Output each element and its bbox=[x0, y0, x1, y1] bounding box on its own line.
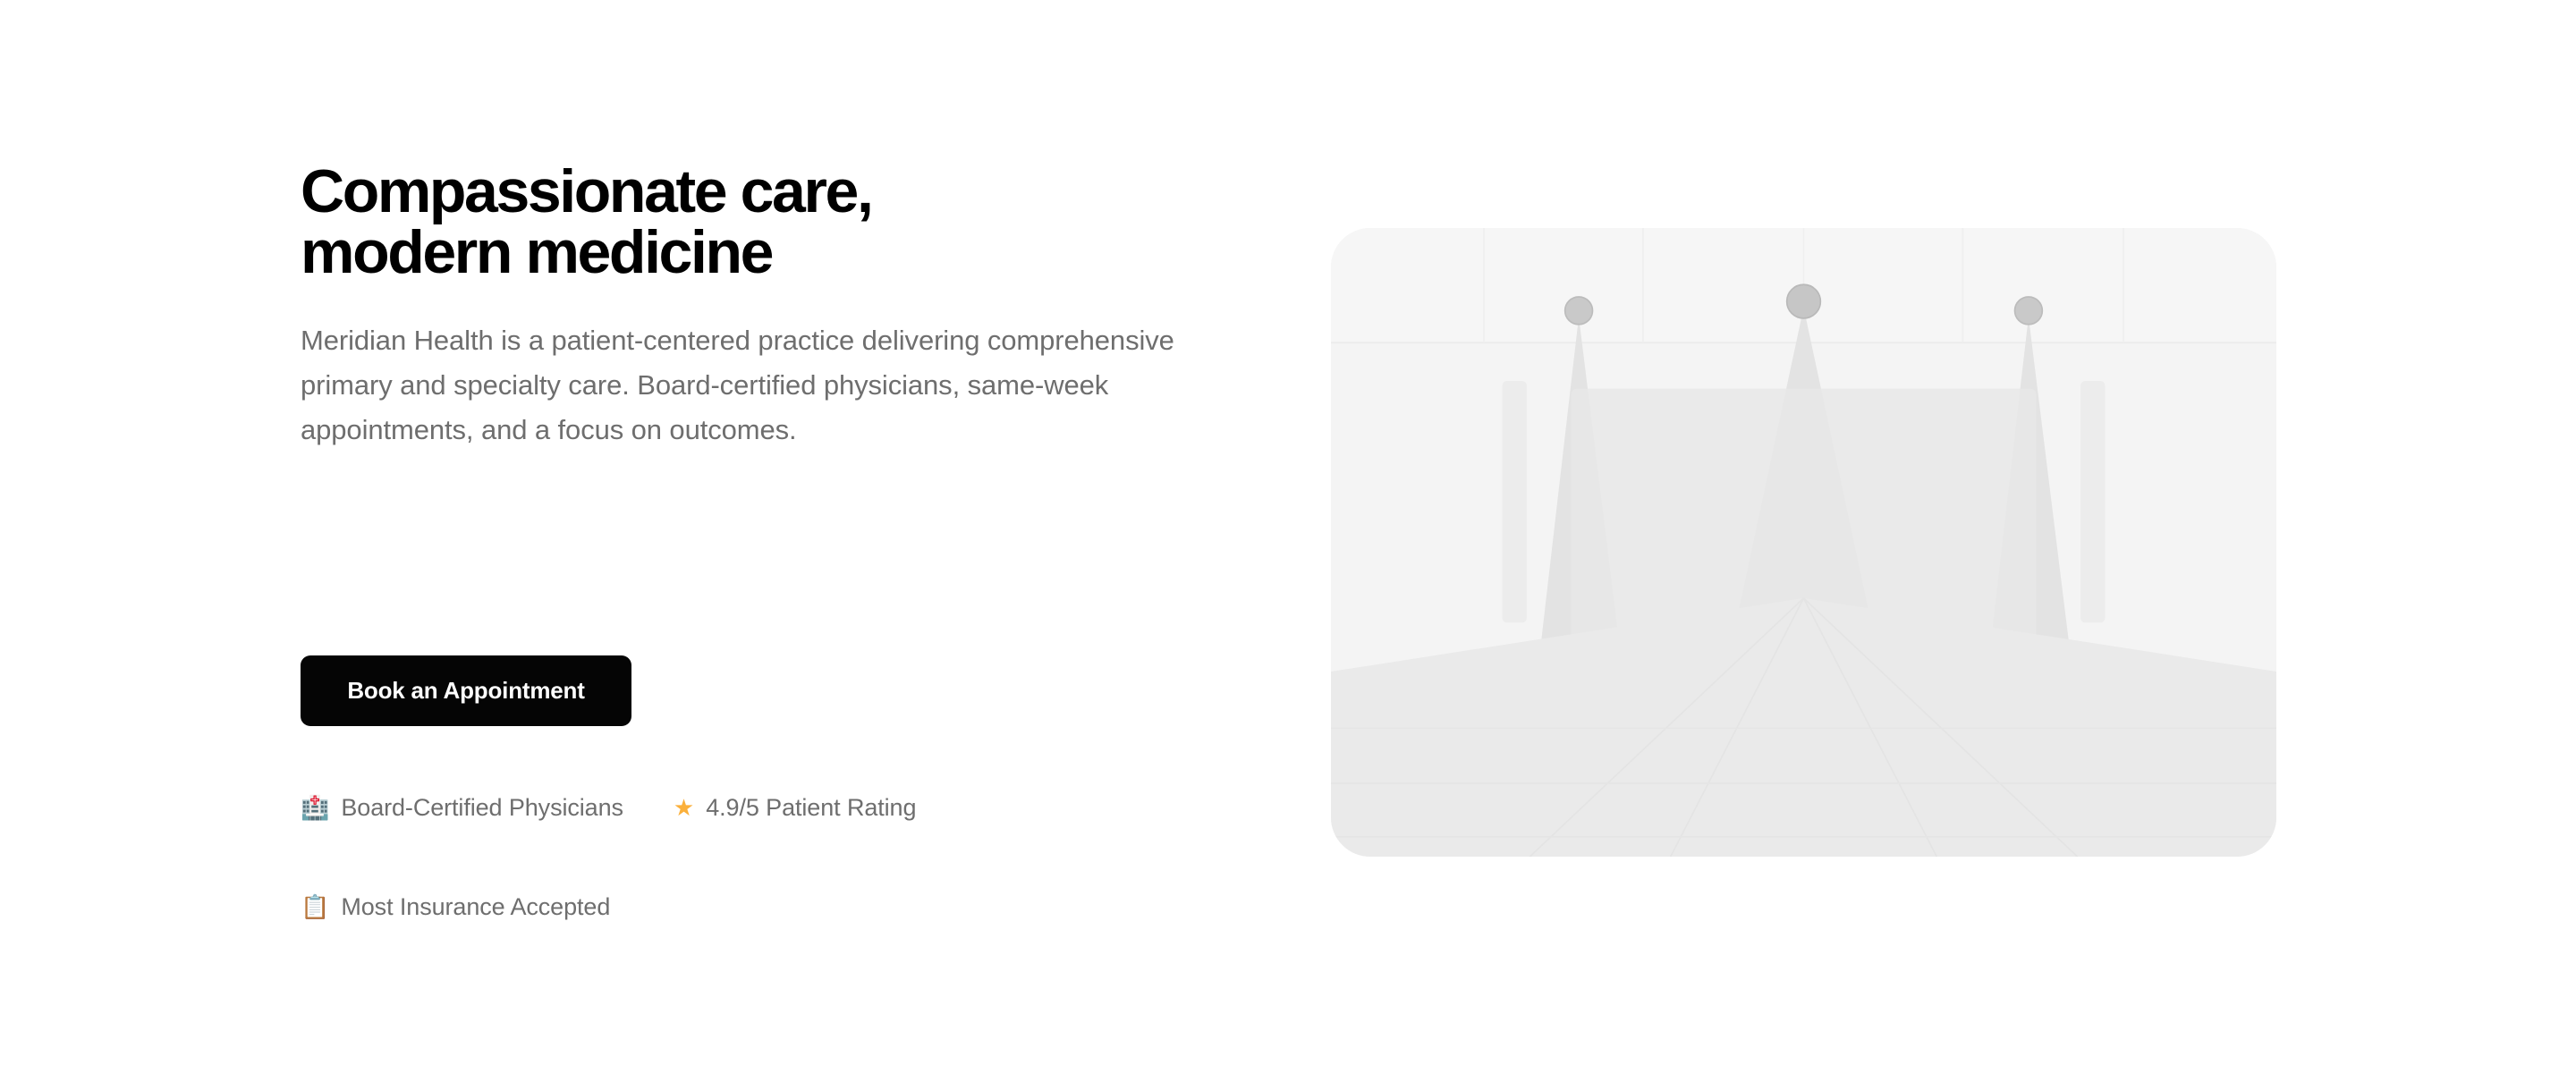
badge-label: Board-Certified Physicians bbox=[341, 794, 623, 822]
badge-patient-rating: ★ 4.9/5 Patient Rating bbox=[674, 794, 916, 822]
hero-section: Compassionate care, modern medicine Meri… bbox=[0, 0, 2576, 1082]
badge-board-certified: 🏥 Board-Certified Physicians bbox=[301, 794, 623, 822]
hero-copy-block: Compassionate care, modern medicine Meri… bbox=[301, 161, 1249, 453]
book-appointment-button[interactable]: Book an Appointment bbox=[301, 655, 631, 726]
star-icon: ★ bbox=[674, 797, 694, 820]
clinic-corridor-illustration bbox=[1331, 228, 2276, 857]
light-fixture-left bbox=[1565, 297, 1593, 325]
page-title: Compassionate care, modern medicine bbox=[301, 161, 1249, 283]
badge-insurance-accepted: 📋 Most Insurance Accepted bbox=[301, 893, 610, 921]
illustration-canvas bbox=[1331, 228, 2276, 857]
pillar-left bbox=[1503, 381, 1527, 622]
pillar-right bbox=[2080, 381, 2105, 622]
trust-badges: 🏥 Board-Certified Physicians ★ 4.9/5 Pat… bbox=[301, 794, 1204, 921]
badge-label: Most Insurance Accepted bbox=[341, 893, 610, 921]
hospital-icon: 🏥 bbox=[301, 797, 329, 820]
light-fixture-center bbox=[1787, 284, 1821, 318]
light-fixture-right bbox=[2015, 297, 2043, 325]
badge-label: 4.9/5 Patient Rating bbox=[706, 794, 916, 822]
hero-description: Meridian Health is a patient-centered pr… bbox=[301, 318, 1204, 453]
clipboard-icon: 📋 bbox=[301, 896, 329, 919]
